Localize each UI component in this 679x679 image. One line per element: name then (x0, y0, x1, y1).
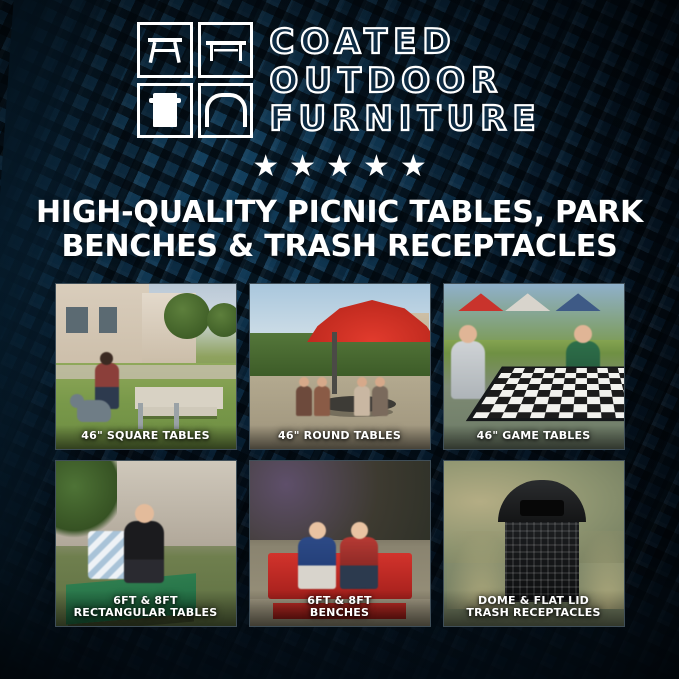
gallery-caption-rectangular-tables: 6FT & 8FT RECTANGULAR TABLES (56, 590, 236, 626)
star-icon-2: ★ (289, 152, 316, 182)
gallery-tile-rectangular-tables: 6FT & 8FT RECTANGULAR TABLES (55, 460, 237, 627)
park-bench-icon (206, 37, 246, 63)
logo-cell-arch (198, 83, 254, 139)
picnic-table-icon (147, 35, 183, 65)
gallery-caption-trash-receptacles: DOME & FLAT LID TRASH RECEPTACLES (444, 590, 624, 626)
photo-round-tables (250, 284, 430, 449)
gallery-tile-trash-receptacles: DOME & FLAT LID TRASH RECEPTACLES (443, 460, 625, 627)
gallery-caption-benches: 6FT & 8FT BENCHES (250, 590, 430, 626)
product-poster: COATED OUTDOOR FURNITURE ★ ★ ★ ★ ★ HIGH-… (0, 0, 679, 679)
checkerboard-game-top (465, 366, 624, 421)
caption-line-2: RECTANGULAR TABLES (60, 607, 232, 619)
gallery-tile-game-tables: 46" GAME TABLES (443, 283, 625, 450)
star-icon-5: ★ (400, 152, 427, 182)
photo-game-tables (444, 284, 624, 449)
headline: HIGH-QUALITY PICNIC TABLES, PARK BENCHES… (30, 196, 650, 264)
logo-cell-trash-receptacle (137, 83, 193, 139)
headline-line-2: BENCHES & TRASH RECEPTACLES (30, 230, 650, 264)
gallery-caption-game-tables: 46" GAME TABLES (444, 425, 624, 448)
headline-line-1: HIGH-QUALITY PICNIC TABLES, PARK (30, 196, 650, 230)
logo-line-2: OUTDOOR (269, 63, 541, 100)
gallery-tile-square-tables: 46" SQUARE TABLES (55, 283, 237, 450)
caption-line-2: BENCHES (254, 607, 426, 619)
photo-square-tables (56, 284, 236, 449)
gallery-tile-benches: 6FT & 8FT BENCHES (249, 460, 431, 627)
star-icon-1: ★ (252, 152, 279, 182)
gallery-tile-round-tables: 46" ROUND TABLES (249, 283, 431, 450)
star-icon-3: ★ (326, 152, 353, 182)
logo-cell-park-bench (198, 22, 254, 78)
star-icon-4: ★ (363, 152, 390, 182)
star-rating: ★ ★ ★ ★ ★ (252, 152, 427, 182)
brand-logo: COATED OUTDOOR FURNITURE (137, 22, 541, 138)
logo-wordmark: COATED OUTDOOR FURNITURE (269, 22, 541, 138)
gallery-caption-round-tables: 46" ROUND TABLES (250, 425, 430, 448)
product-gallery: 46" SQUARE TABLES 46" ROUND TAB (55, 283, 625, 627)
logo-line-3: FURNITURE (269, 101, 541, 138)
logo-line-1: COATED (269, 24, 541, 61)
caption-line-2: TRASH RECEPTACLES (448, 607, 620, 619)
arch-icon (205, 93, 247, 127)
trash-receptacle-icon (153, 93, 177, 127)
logo-cell-picnic-table (137, 22, 193, 78)
gallery-caption-square-tables: 46" SQUARE TABLES (56, 425, 236, 448)
logo-mark (137, 22, 253, 138)
